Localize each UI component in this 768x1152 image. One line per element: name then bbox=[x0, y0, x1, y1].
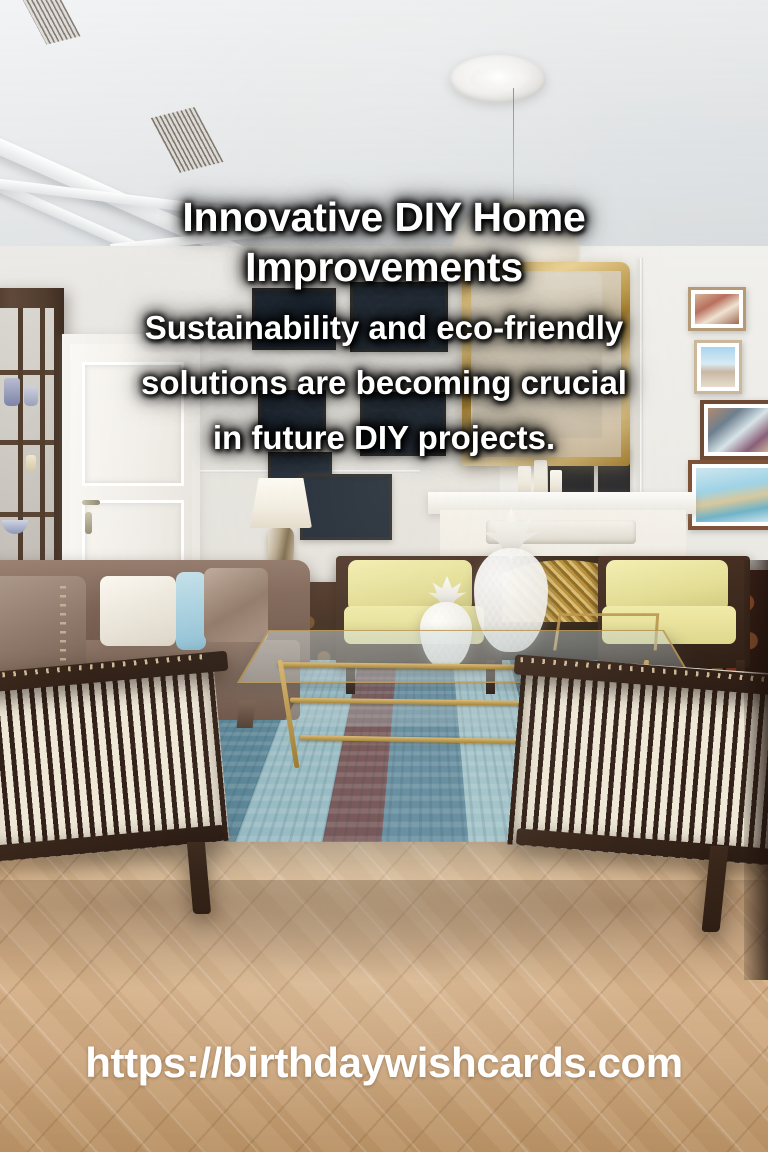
chair-floor-shadow bbox=[0, 880, 768, 1000]
ceiling-rose-inner bbox=[470, 66, 526, 92]
cabinet-shelf bbox=[0, 512, 54, 517]
gallery-artwork bbox=[700, 400, 768, 460]
mirror-glass bbox=[472, 272, 602, 438]
throw-pillow-blue bbox=[176, 572, 206, 650]
framed-picture bbox=[360, 392, 446, 456]
gallery-artwork bbox=[688, 287, 746, 331]
gallery-artwork bbox=[694, 340, 742, 394]
sofa-leg bbox=[237, 700, 256, 728]
candle-decor bbox=[26, 455, 36, 471]
pillar-candle bbox=[534, 460, 547, 494]
door-panel bbox=[82, 362, 184, 486]
ceramic-jar bbox=[24, 386, 38, 406]
background-photo bbox=[0, 0, 768, 1152]
pillar-candle bbox=[518, 466, 531, 494]
cabinet-shelf bbox=[0, 440, 54, 445]
throw-pillow-cream bbox=[100, 576, 176, 646]
pendant-wire bbox=[513, 88, 514, 206]
pinterest-pin-card: Innovative DIY Home Improvements Sustain… bbox=[0, 0, 768, 1152]
framed-picture bbox=[252, 288, 336, 350]
door-handle bbox=[82, 500, 100, 505]
framed-picture bbox=[350, 282, 448, 352]
framed-picture bbox=[258, 390, 326, 440]
cabinet-shelf bbox=[0, 370, 54, 375]
throw-pillow-patterned bbox=[204, 568, 268, 642]
yellow-armchair-right-back bbox=[606, 560, 728, 612]
right-dark-edge bbox=[744, 560, 768, 980]
framed-picture bbox=[300, 474, 392, 540]
gallery-artwork bbox=[688, 460, 768, 530]
pillar-candle bbox=[550, 470, 562, 494]
door-escutcheon bbox=[85, 512, 92, 534]
table-lamp-shade bbox=[250, 478, 312, 528]
ceramic-jar bbox=[4, 378, 20, 406]
